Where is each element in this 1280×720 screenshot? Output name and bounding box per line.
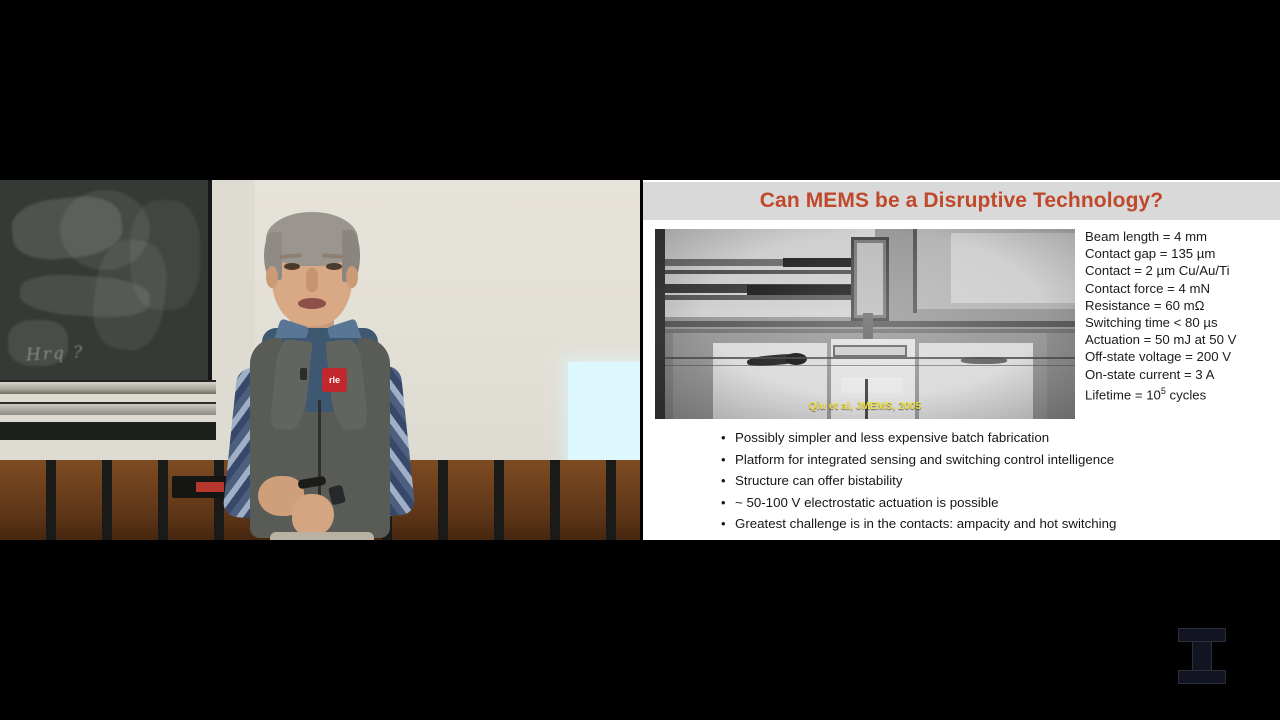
spec-row: Off-state voltage = 200 V [1085,348,1280,365]
lapel-microphone [300,368,307,380]
spec-list: Beam length = 4 mm Contact gap = 135 µm … [1085,228,1280,403]
bullet-item: ~ 50-100 V electrostatic actuation is po… [721,492,1261,514]
bullet-list: Possibly simpler and less expensive batc… [721,427,1261,535]
bullet-item: Platform for integrated sensing and swit… [721,449,1261,471]
bullet-item: Greatest challenge is in the contacts: a… [721,513,1261,535]
video-player-frame: Hrq ? [0,0,1280,720]
micrograph-vignette [655,229,1075,419]
wood-plank [448,460,494,540]
wood-plank [616,460,640,540]
chalkboard-writing: Hrq ? [26,342,85,365]
presentation-slide: Can MEMS be a Disruptive Technology? [643,180,1280,540]
spec-row: Switching time < 80 µs [1085,314,1280,331]
bullet-item: Structure can offer bistability [721,470,1261,492]
wood-plank [112,460,158,540]
chalk-tray [0,380,216,394]
logo-bottom-bar [1178,670,1226,684]
speaker: rle [222,210,418,540]
wood-plank [168,460,214,540]
micrograph-image [655,229,1075,419]
lecture-hall-camera-feed: Hrq ? [0,180,640,540]
wood-plank [56,460,102,540]
spec-row: Beam length = 4 mm [1085,228,1280,245]
logo-stem [1192,642,1212,670]
trousers [270,532,374,540]
spec-row: Resistance = 60 mΩ [1085,297,1280,314]
spec-lifetime-suffix: cycles [1166,387,1206,402]
chalk-smudge [130,200,200,310]
board-shadow [0,422,216,440]
spec-row: Contact force = 4 mN [1085,280,1280,297]
mems-switch-micrograph: Qiu et al, JMEMS, 2005 [655,229,1075,419]
slide-body: Qiu et al, JMEMS, 2005 Beam length = 4 m… [643,220,1280,540]
spec-row-lifetime: Lifetime = 105 cycles [1085,383,1280,404]
spec-row: On-state current = 3 A [1085,366,1280,383]
ear-left [266,266,278,288]
bullet-item: Possibly simpler and less expensive batc… [721,427,1261,449]
figure-credit: Qiu et al, JMEMS, 2005 [655,401,1075,412]
wood-plank [0,460,46,540]
wood-plank [504,460,550,540]
spec-row: Actuation = 50 mJ at 50 V [1085,331,1280,348]
lectern-red-label [196,482,224,492]
eye-right [326,263,342,270]
mouth [298,298,326,309]
eye-left [284,263,300,270]
vest-logo-patch: rle [322,368,347,392]
slide-title-bar: Can MEMS be a Disruptive Technology? [643,182,1280,220]
slide-title: Can MEMS be a Disruptive Technology? [760,189,1163,213]
illinois-block-i-logo [1178,628,1226,684]
spec-lifetime-prefix: Lifetime = 10 [1085,387,1161,402]
hand-right [292,494,334,536]
logo-top-bar [1178,628,1226,642]
spec-row: Contact = 2 µm Cu/Au/Ti [1085,262,1280,279]
nose [306,268,318,292]
ear-right [346,266,358,288]
chalk-tray-lower [0,402,216,415]
wood-plank [560,460,606,540]
spec-row: Contact gap = 135 µm [1085,245,1280,262]
chalkboard: Hrq ? [0,180,212,385]
